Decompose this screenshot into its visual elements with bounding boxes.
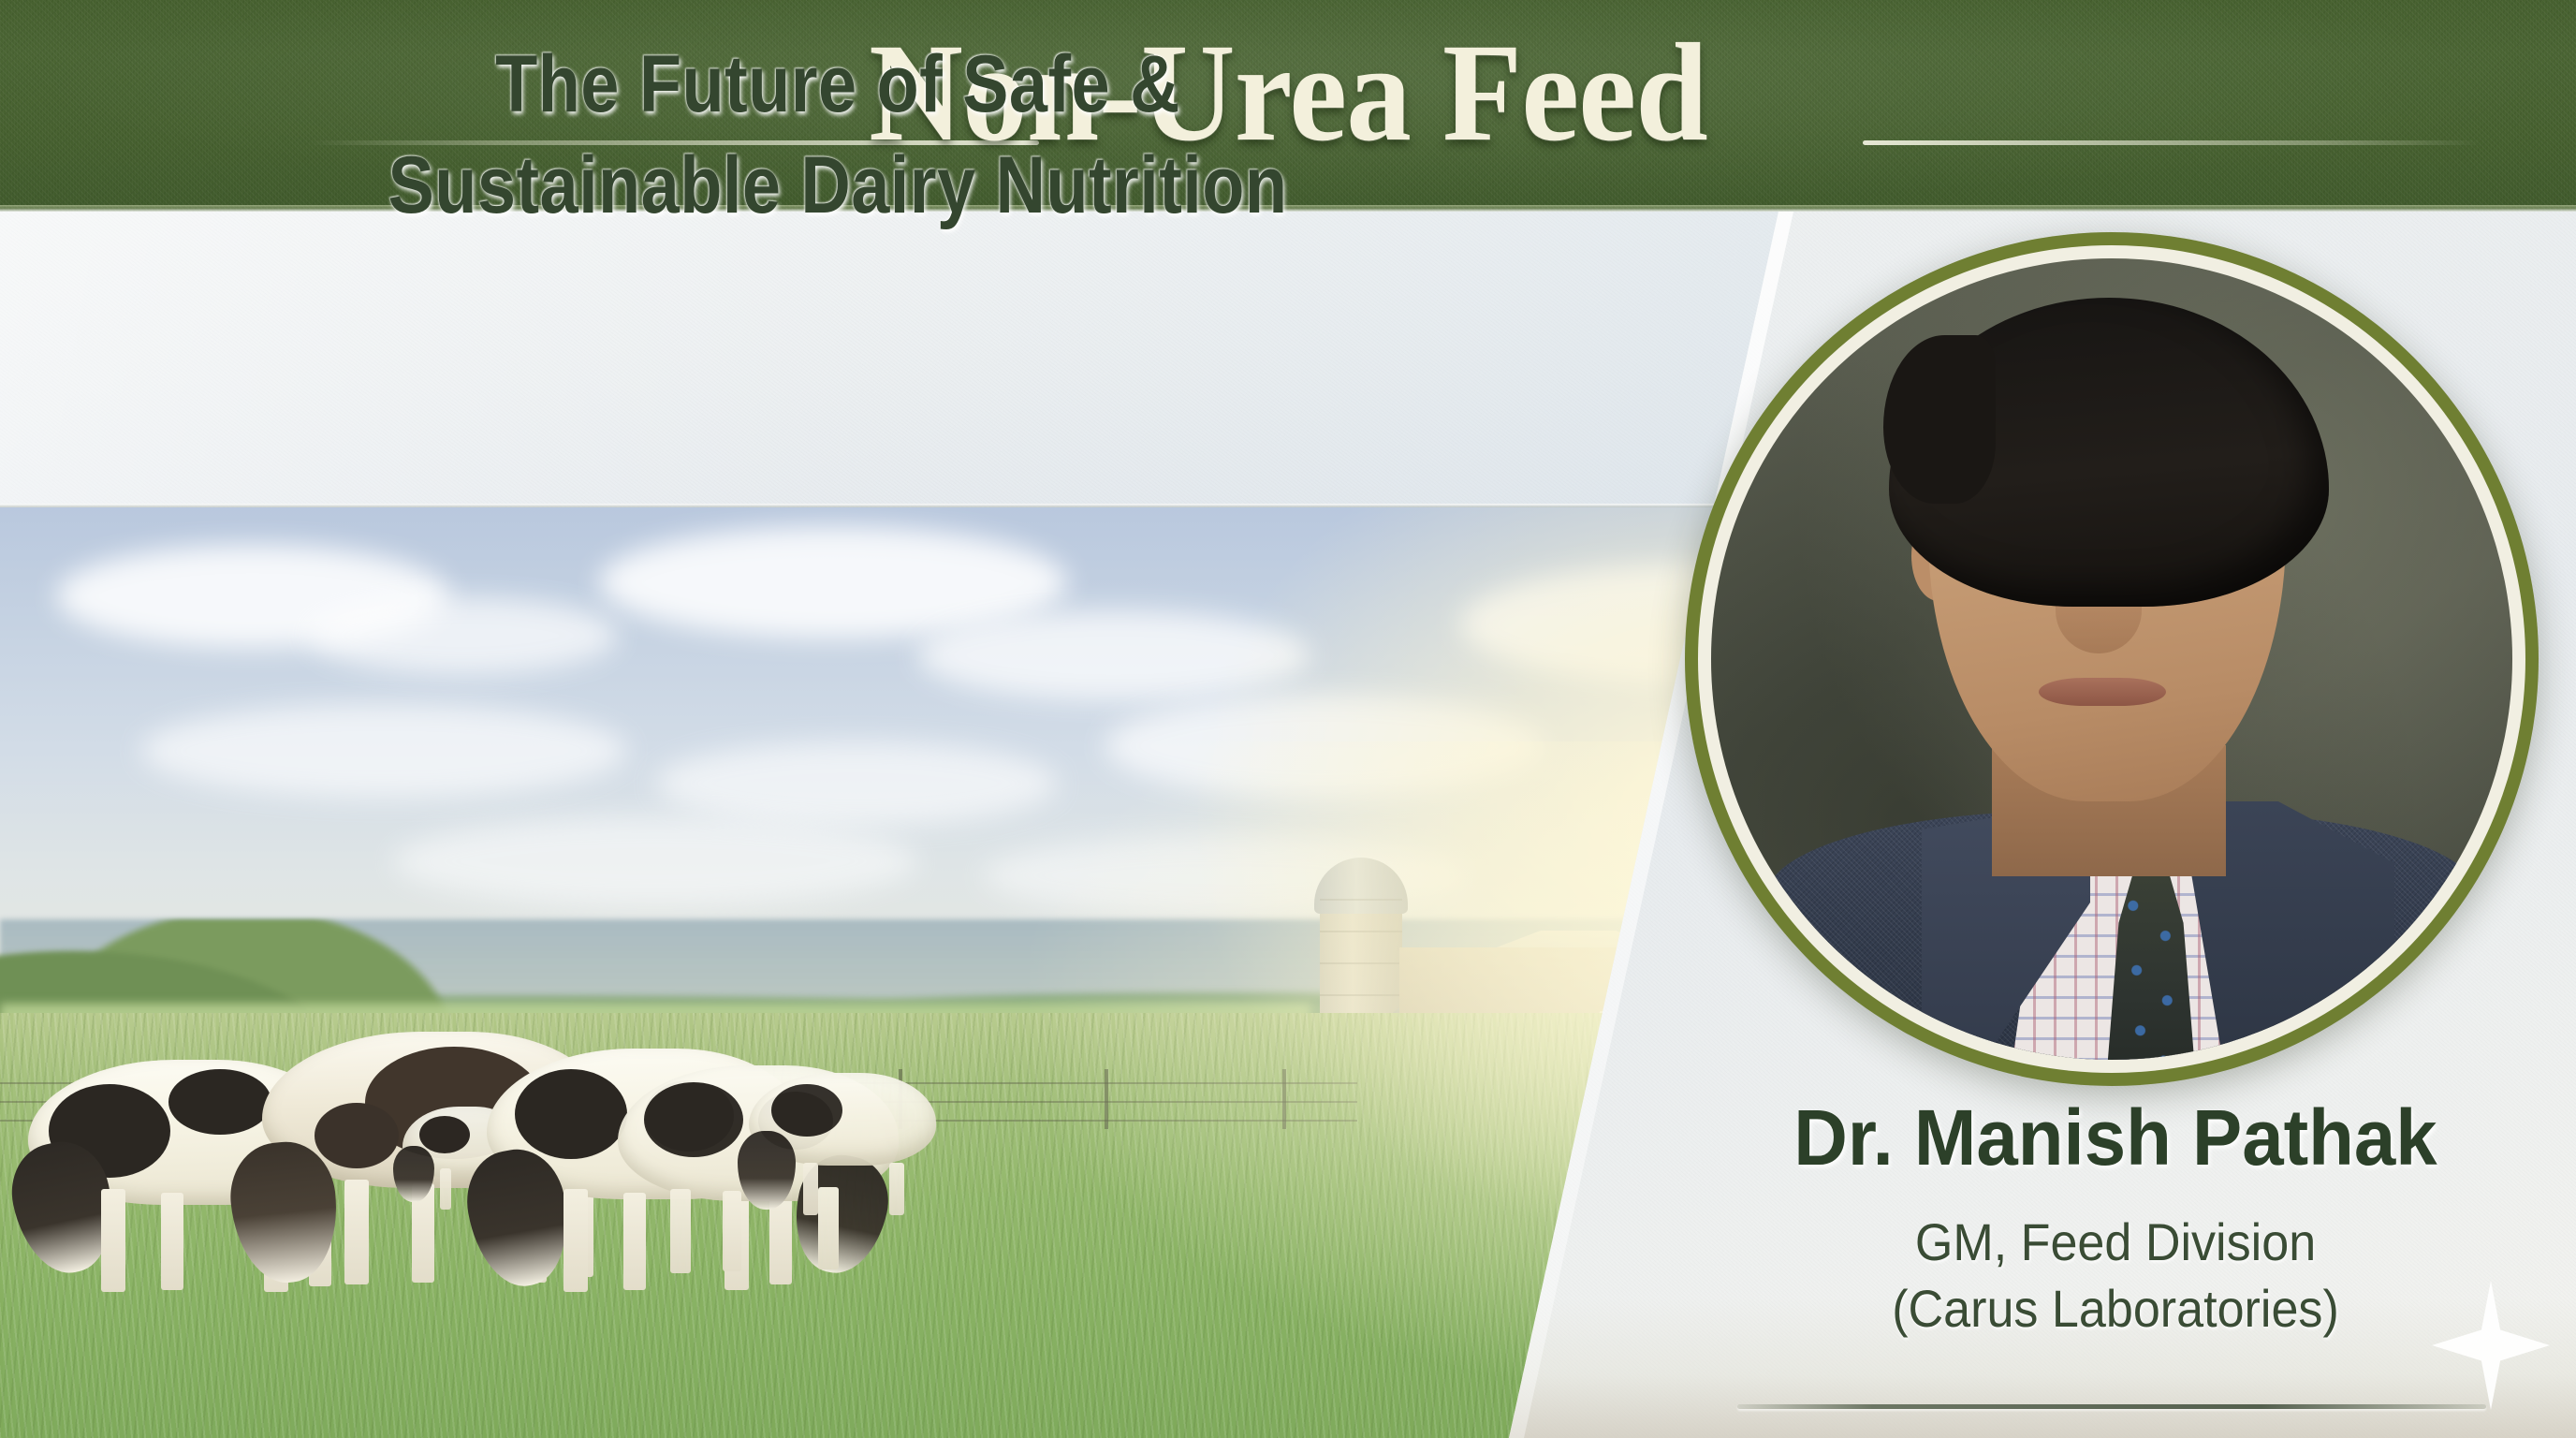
subtitle: The Future of Safe & Sustainable Dairy N… (117, 34, 1558, 237)
cloud (393, 816, 917, 906)
speaker-organization: (Carus Laboratories) (1749, 1275, 2481, 1343)
cow (749, 1073, 936, 1213)
subtitle-line-1: The Future of Safe & (117, 34, 1558, 135)
speaker-role: GM, Feed Division (1749, 1209, 2481, 1276)
cloud (655, 741, 1058, 826)
cloud (140, 704, 627, 798)
speaker-name: Dr. Manish Pathak (1742, 1095, 2489, 1181)
cloud (917, 610, 1310, 700)
cloud (309, 597, 618, 674)
subtitle-line-2: Sustainable Dairy Nutrition (117, 135, 1558, 236)
avatar (1711, 258, 2512, 1060)
speaker-info: Dr. Manish Pathak GM, Feed Division (Car… (1722, 1095, 2509, 1343)
bottom-divider (1737, 1404, 2486, 1409)
promo-banner: Non-Urea Feed The Future of Safe & Susta… (0, 0, 2576, 1438)
portrait-mouth (2039, 678, 2166, 706)
